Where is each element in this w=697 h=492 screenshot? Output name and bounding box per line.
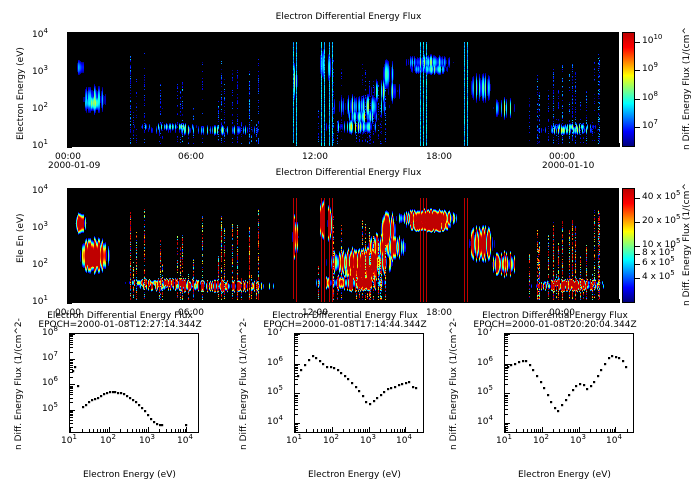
x-minor-spec3 [542, 432, 543, 433]
x-tickmark [132, 429, 133, 432]
y-tick-top-2: 102 [32, 104, 48, 114]
spec-y-tickmark [67, 61, 70, 62]
spec-x-tickmark [468, 299, 469, 303]
x-tickmark [516, 429, 517, 432]
y-tickmark [70, 394, 73, 395]
y-tickmark [70, 365, 73, 366]
y-tickmark [295, 398, 298, 399]
colorbar-top-tickmark-1 [635, 99, 640, 100]
x-tick-top-4-date: 2000-01-10 [542, 161, 594, 171]
spec-y-tickmark [67, 56, 70, 57]
spec-y-tickmark [67, 130, 70, 131]
spec-x-tickmark [544, 299, 545, 303]
y-tickmark [295, 343, 298, 344]
spec-y-tickmark [67, 270, 70, 271]
x-minor-spec3 [531, 432, 532, 433]
y-tickmark [505, 367, 508, 368]
y-tickmark [295, 334, 300, 335]
x-minor-spec2 [321, 432, 322, 433]
spec-x-tickmark [218, 299, 219, 303]
spec-x-tickmark [142, 143, 143, 147]
y-tickmark [505, 428, 508, 429]
spec-y-tickmark [67, 202, 70, 203]
spec-y-tickmark [67, 123, 70, 124]
y-tickmark [70, 362, 73, 363]
spec-x-tickmark [218, 143, 219, 147]
y-tickmark [295, 400, 298, 401]
spec-y-tickmark [67, 137, 70, 138]
x-minor-spec3 [516, 432, 517, 433]
spec-y-tickmark [67, 48, 70, 49]
spec-y-tickmark [67, 91, 70, 92]
y-tick-spec1-3: 108 [42, 328, 58, 338]
x-tickmark [171, 429, 172, 432]
x-tickmark [391, 429, 392, 432]
spec-y-tickmark [67, 188, 70, 189]
y-tickmark [295, 384, 298, 385]
spec-x-tickmark [519, 143, 520, 147]
x-minor-spec1 [171, 432, 172, 433]
x-tickmark [159, 429, 160, 432]
x-tick-top-2: 12:00 [302, 152, 328, 162]
spec-x-tickmark [594, 143, 595, 147]
y-tickmark [70, 420, 73, 421]
x-tickmark [186, 427, 187, 432]
x-tickmark [531, 429, 532, 432]
y-tickmark [295, 376, 298, 377]
x-minor-spec3 [601, 432, 602, 433]
y-tickmark [505, 430, 508, 431]
x-minor-spec3 [590, 432, 591, 433]
spec-x-tickmark [117, 143, 118, 147]
x-minor-spec1 [103, 432, 104, 433]
x-tickmark [400, 429, 401, 432]
colorbar-top-tickmark-3 [635, 42, 640, 43]
x-tickmark [553, 429, 554, 432]
spec-x-tickmark [167, 299, 168, 303]
spec-y-tickmark [67, 112, 72, 113]
x-tickmark [82, 429, 83, 432]
y-tickmark [505, 409, 508, 410]
y-tickmark [505, 337, 508, 338]
colorbar-mid-tickmark-5 [635, 198, 640, 199]
spec-x-tickmark [92, 143, 93, 147]
x-minor-spec1 [70, 432, 71, 433]
spec-x-tickmark [544, 143, 545, 147]
y-tickmark [505, 432, 508, 433]
spec-y-tickmark [67, 83, 70, 84]
x-tickmark [573, 429, 574, 432]
x-tickmark [423, 429, 424, 432]
spec-y-tickmark [67, 42, 72, 43]
x-minor-spec2 [306, 432, 307, 433]
x-tickmark [386, 429, 387, 432]
spec-y-tickmark [67, 209, 70, 210]
y-tickmark [70, 427, 73, 428]
spec-y-tickmark [67, 116, 70, 117]
spec-y-tickmark [67, 200, 70, 201]
x-minor-spec3 [538, 432, 539, 433]
colorbar-top-tick-2: 109 [642, 64, 658, 74]
x-tick-top-3: 18:00 [426, 152, 452, 162]
spec-x-tickmark [393, 143, 394, 147]
x-minor-spec3 [604, 432, 605, 433]
y-tickmark [295, 339, 298, 340]
y-tickmark [505, 376, 508, 377]
x-tickmark [136, 429, 137, 432]
x-minor-spec2 [313, 432, 314, 433]
y-tickmark [295, 367, 298, 368]
spec-x-tickmark [594, 299, 595, 303]
colorbar-top-tick-3: 1010 [642, 36, 662, 46]
x-tickmark [615, 427, 616, 432]
colorbar-label-middle: n Diff. Energy Flux (1/(cm^ [682, 183, 692, 306]
x-minor-spec1 [93, 432, 94, 433]
y-axis-label-middle: Ele En (eV) [16, 213, 26, 263]
y-tickmark [505, 423, 510, 424]
x-tickmark [536, 429, 537, 432]
y-tickmark [295, 393, 300, 394]
spec-y-tickmark [67, 79, 70, 80]
y-tickmark [505, 346, 508, 347]
spectrum-middle-plot [295, 334, 423, 432]
x-tickmark [405, 427, 406, 432]
spec-x-tickmark [443, 143, 444, 147]
spectrum-left-plot [70, 334, 198, 432]
y-tickmark [295, 396, 298, 397]
spec-x-tickmark [368, 299, 369, 303]
y-tickmark [505, 341, 508, 342]
x-tickmark [183, 429, 184, 432]
x-tickmark [367, 429, 368, 432]
y-tickmark [295, 350, 298, 351]
colorbar-mid-tick-1: 6 x 105 [642, 258, 675, 268]
spec-x-tickmark [494, 143, 495, 147]
x-minor-spec2 [402, 432, 403, 433]
x-tickmark [332, 427, 333, 432]
x-tick-top-0-date: 2000-01-09 [48, 161, 100, 171]
x-tickmark [570, 429, 571, 432]
y-tick-spec1-2: 107 [42, 353, 58, 363]
x-minor-spec1 [89, 432, 90, 433]
spec-x-tickmark [569, 143, 570, 147]
y-tickmark [295, 370, 298, 371]
x-minor-spec2 [394, 432, 395, 433]
y-tickmark [70, 342, 73, 343]
y-tickmark [505, 402, 508, 403]
spec-x-tickmark [494, 299, 495, 303]
x-tickmark [107, 429, 108, 432]
x-minor-spec1 [132, 432, 133, 433]
y-tickmark [70, 344, 73, 345]
y-tickmark [295, 409, 298, 410]
x-minor-spec3 [564, 432, 565, 433]
spec-y-tickmark [67, 114, 70, 115]
spec-x-tickmark [318, 143, 319, 147]
spec-x-tickmark [318, 299, 319, 303]
spec-x-tickmark [167, 143, 168, 147]
spectrum-right-ylabel: n Diff. Energy Flux (1/(cm^2- [449, 318, 459, 450]
x-minor-spec3 [553, 432, 554, 433]
spec-x-tickmark [192, 143, 193, 147]
y-tickmark [70, 369, 73, 370]
x-minor-spec1 [109, 432, 110, 433]
x-tickmark [417, 429, 418, 432]
y-tickmark [70, 423, 73, 424]
y-tickmark [505, 365, 508, 366]
x-tickmark [89, 429, 90, 432]
x-minor-spec1 [142, 432, 143, 433]
y-tickmark [295, 426, 298, 427]
spec-y-tickmark [67, 235, 70, 236]
x-tickmark [607, 429, 608, 432]
x-tickmark [349, 429, 350, 432]
spec-x-tickmark [569, 299, 570, 303]
spectrum-middle-ylabel: n Diff. Energy Flux (1/(cm^2- [239, 318, 249, 450]
y-tick-top-4: 104 [32, 30, 48, 40]
x-minor-spec1 [136, 432, 137, 433]
x-tick-spec1-2: 103 [139, 436, 155, 446]
x-minor-spec1 [175, 432, 176, 433]
x-minor-spec2 [328, 432, 329, 433]
x-tickmark [369, 427, 370, 432]
x-minor-spec2 [349, 432, 350, 433]
x-tickmark [178, 429, 179, 432]
colorbar-mid-tickmark-3 [635, 246, 640, 247]
x-tick-spec1-3: 104 [177, 436, 193, 446]
x-tickmark [564, 429, 565, 432]
spec-y-tickmark [67, 120, 70, 121]
y-tickmark [505, 370, 508, 371]
spec-x-tickmark [192, 299, 193, 303]
y-tick-spec2-2: 106 [267, 358, 283, 368]
spec-y-tickmark [67, 274, 70, 275]
y-tickmark [70, 363, 73, 364]
x-tick-spec1-1: 102 [100, 436, 116, 446]
x-tickmark [142, 429, 143, 432]
x-minor-spec2 [405, 432, 406, 433]
spec-y-tickmark [67, 212, 70, 213]
y-tick-spec3-0: 104 [477, 417, 493, 427]
spec-y-tickmark [67, 237, 70, 238]
y-tickmark [505, 393, 510, 394]
spec-y-tickmark [67, 96, 70, 97]
x-minor-spec3 [570, 432, 571, 433]
y-tick-spec2-1: 105 [267, 387, 283, 397]
x-tick-spec2-3: 104 [396, 436, 412, 446]
y-tickmark [70, 352, 73, 353]
spec-y-tickmark [67, 252, 70, 253]
y-tickmark [70, 335, 73, 336]
x-tickmark [360, 429, 361, 432]
x-tickmark [146, 429, 147, 432]
x-tickmark [577, 429, 578, 432]
y-tickmark [295, 414, 298, 415]
x-tickmark [579, 427, 580, 432]
spectrum-right-xlabel: Electron Energy (eV) [518, 470, 611, 480]
x-tick-spec1-0: 101 [61, 436, 77, 446]
y-tickmark [295, 424, 298, 425]
x-tick-spec3-2: 103 [570, 436, 586, 446]
x-minor-spec1 [178, 432, 179, 433]
spec-y-tickmark [67, 126, 70, 127]
y-tickmark [505, 424, 508, 425]
x-tick-spec3-0: 101 [496, 436, 512, 446]
x-minor-spec1 [183, 432, 184, 433]
spectrogram-top-image [68, 33, 618, 146]
y-tickmark [295, 402, 298, 403]
x-tickmark [93, 429, 94, 432]
x-minor-spec2 [367, 432, 368, 433]
x-tickmark [538, 429, 539, 432]
x-minor-spec3 [527, 432, 528, 433]
x-minor-spec1 [97, 432, 98, 433]
x-minor-spec1 [139, 432, 140, 433]
spec-x-tickmark [519, 299, 520, 303]
y-tickmark [505, 395, 508, 396]
colorbar-mid-tickmark-0 [635, 278, 640, 279]
y-tickmark [295, 341, 298, 342]
colorbar-mid-tickmark-1 [635, 264, 640, 265]
x-tickmark [139, 429, 140, 432]
x-minor-spec3 [577, 432, 578, 433]
y-tick-top-1: 101 [32, 141, 48, 151]
y-tickmark [70, 411, 73, 412]
panel-title-middle: Electron Differential Energy Flux [181, 168, 516, 178]
colorbar-mid-tick-5: 40 x 105 [642, 192, 680, 202]
spec-y-tickmark [67, 81, 70, 82]
x-minor-spec3 [575, 432, 576, 433]
y-tickmark [295, 432, 298, 433]
x-tick-spec3-3: 104 [606, 436, 622, 446]
spec-y-tickmark [67, 204, 70, 205]
spectrum-right-plot [505, 334, 633, 432]
x-tickmark [198, 429, 199, 432]
x-minor-spec2 [365, 432, 366, 433]
spec-y-tickmark [67, 268, 72, 269]
spec-x-tickmark [142, 299, 143, 303]
y-tickmark [505, 400, 508, 401]
x-minor-spec1 [82, 432, 83, 433]
y-tick-spec3-3: 107 [477, 328, 493, 338]
y-tickmark [70, 387, 73, 388]
y-tickmark [295, 335, 298, 336]
y-tick-mid-1: 101 [32, 297, 48, 307]
y-tickmark [70, 386, 73, 387]
spec-y-tickmark [67, 286, 70, 287]
colorbar-top-tickmark-2 [635, 70, 640, 71]
y-tickmark [70, 388, 73, 389]
x-minor-spec3 [559, 432, 560, 433]
y-tickmark [70, 384, 75, 385]
y-tickmark [70, 377, 73, 378]
x-minor-spec2 [326, 432, 327, 433]
x-tickmark [103, 429, 104, 432]
y-tickmark [295, 364, 300, 365]
x-minor-spec1 [105, 432, 106, 433]
spec-y-tickmark [67, 46, 70, 47]
y-tickmark [295, 395, 298, 396]
y-tick-mid-4: 104 [32, 186, 48, 196]
spec-y-tickmark [67, 44, 70, 45]
x-minor-spec2 [397, 432, 398, 433]
x-tickmark [627, 429, 628, 432]
x-tick-spec3-1: 102 [533, 436, 549, 446]
x-tickmark [610, 429, 611, 432]
spec-x-tickmark [443, 299, 444, 303]
y-tickmark [70, 360, 73, 361]
y-tickmark [70, 336, 73, 337]
x-tickmark [633, 429, 634, 432]
y-tickmark [505, 339, 508, 340]
spec-y-tickmark [67, 258, 70, 259]
y-tickmark [70, 367, 73, 368]
x-minor-spec1 [198, 432, 199, 433]
x-tickmark [542, 427, 543, 432]
x-minor-spec1 [144, 432, 145, 433]
spec-x-tickmark [468, 143, 469, 147]
x-minor-spec3 [612, 432, 613, 433]
x-minor-spec3 [579, 432, 580, 433]
x-minor-spec1 [107, 432, 108, 433]
x-tickmark [534, 429, 535, 432]
x-tickmark [175, 429, 176, 432]
x-tickmark [100, 429, 101, 432]
spec-y-tickmark [67, 118, 70, 119]
y-tickmark [70, 417, 73, 418]
x-minor-spec2 [400, 432, 401, 433]
y-tickmark [505, 373, 508, 374]
x-minor-spec2 [391, 432, 392, 433]
x-minor-spec3 [627, 432, 628, 433]
spec-y-tickmark [67, 198, 72, 199]
y-tickmark [70, 392, 73, 393]
x-tickmark [363, 429, 364, 432]
x-tickmark [365, 429, 366, 432]
spec-y-tickmark [67, 241, 70, 242]
x-minor-spec3 [534, 432, 535, 433]
y-tick-spec3-2: 106 [477, 358, 493, 368]
colorbar-mid-tickmark-4 [635, 222, 640, 223]
x-minor-spec2 [369, 432, 370, 433]
y-tickmark [70, 412, 73, 413]
y-tick-spec1-1: 106 [42, 378, 58, 388]
x-minor-spec1 [100, 432, 101, 433]
spec-x-tickmark [243, 143, 244, 147]
y-tickmark [295, 346, 298, 347]
x-minor-spec2 [380, 432, 381, 433]
y-tickmark [70, 410, 75, 411]
x-tickmark [527, 429, 528, 432]
spec-y-tickmark [67, 88, 70, 89]
y-tickmark [295, 430, 298, 431]
y-tickmark [505, 414, 508, 415]
x-minor-spec3 [568, 432, 569, 433]
x-minor-spec2 [417, 432, 418, 433]
y-tick-spec1-0: 105 [42, 404, 58, 414]
y-tick-spec3-1: 105 [477, 387, 493, 397]
spectrogram-middle-image [68, 189, 618, 302]
x-minor-spec1 [148, 432, 149, 433]
y-tickmark [70, 398, 73, 399]
y-tickmark [505, 396, 508, 397]
x-tickmark [612, 429, 613, 432]
x-minor-spec3 [540, 432, 541, 433]
spec-y-tickmark [67, 85, 70, 86]
x-tickmark [166, 429, 167, 432]
x-tickmark [601, 429, 602, 432]
x-tickmark [105, 429, 106, 432]
